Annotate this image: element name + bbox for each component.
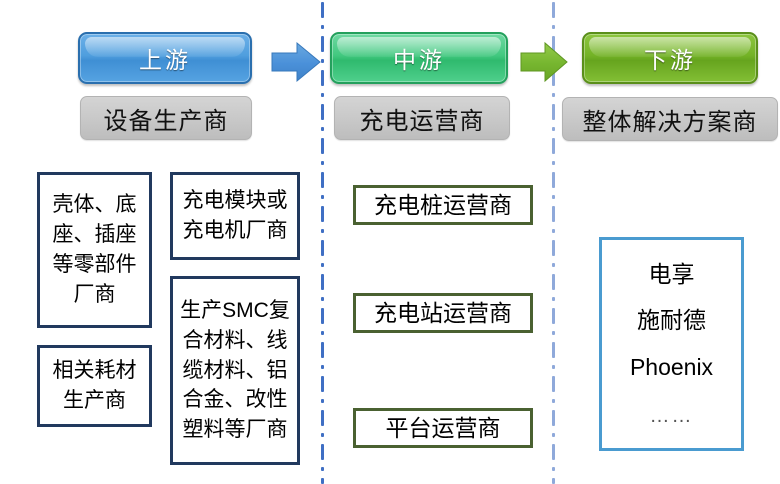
box-line: 生产商 [40,386,149,416]
box-line: 座、插座 [40,220,149,250]
box-line: 充电模块或 [173,186,297,216]
box-line: 电享 [602,258,741,291]
diagram-canvas: 上游 设备生产商 壳体、底 座、插座 等零部件 厂商 相关耗材 生产商 充电模块… [0,0,780,484]
divider-dash [552,172,555,188]
role-bar-midstream-label: 充电运营商 [360,101,485,136]
role-bar-downstream-label: 整体解决方案商 [583,102,758,137]
divider-dash [552,376,555,392]
box-consumables-manufacturers[interactable]: 相关耗材 生产商 [37,345,152,427]
divider-dash [321,399,324,403]
divider-dash [321,172,324,188]
divider-dash [321,93,324,97]
box-line: 合材料、线 [173,326,297,356]
divider-dash [321,478,324,484]
role-bar-upstream-label: 设备生产商 [104,101,229,136]
divider-dash [552,410,555,426]
divider-dash [321,104,324,120]
stage-pill-downstream-label: 下游 [644,41,696,75]
divider-dash [552,127,555,131]
divider-dash [552,229,555,233]
divider-dash [321,138,324,154]
box-platform-operator[interactable]: 平台运营商 [353,408,533,448]
divider-dash [552,2,555,18]
box-line: 缆材料、铝 [173,356,297,386]
divider-dash [321,206,324,222]
divider-dash [321,195,324,199]
divider-dash [552,365,555,369]
stage-pill-upstream[interactable]: 上游 [78,32,252,84]
box-line: 壳体、底 [40,190,149,220]
divider-dash [321,297,324,301]
divider-dash [321,342,324,358]
box-line: 相关耗材 [40,356,149,386]
divider-dash [321,229,324,233]
divider-dash [552,308,555,324]
box-line: Phoenix [602,351,741,384]
divider-dash [321,376,324,392]
divider-dash [552,399,555,403]
stage-pill-downstream[interactable]: 下游 [582,32,758,84]
box-line: …… [602,402,741,430]
box-line: 充电机厂商 [173,216,297,246]
divider-dash [552,331,555,335]
divider-dash [321,2,324,18]
divider-dash [321,161,324,165]
divider-dash [321,365,324,369]
arrow-right-green-icon [519,40,569,84]
divider-dash [552,104,555,120]
divider-dash [321,274,324,290]
divider-dash [321,308,324,324]
stage-pill-midstream[interactable]: 中游 [330,32,508,84]
box-line: 生产SMC复 [173,296,297,326]
divider-dash [552,478,555,484]
divider-dash [321,240,324,256]
divider-dash [321,127,324,131]
arrow-right-blue-icon [270,40,322,84]
divider-dash [552,274,555,290]
role-bar-downstream: 整体解决方案商 [562,97,778,141]
divider-dash [321,263,324,267]
divider-dash [552,206,555,222]
stage-pill-midstream-label: 中游 [393,41,445,75]
divider-dash [321,25,324,29]
divider-dash [321,433,324,437]
box-line: 合金、改性 [173,385,297,415]
box-line: 充电桩运营商 [356,189,530,222]
divider-dash [321,444,324,460]
box-parts-manufacturers[interactable]: 壳体、底 座、插座 等零部件 厂商 [37,172,152,328]
box-charging-module-manufacturers[interactable]: 充电模块或 充电机厂商 [170,172,300,260]
divider-dash [552,25,555,29]
box-line: 施耐德 [602,304,741,337]
divider-dash [552,93,555,97]
stage-pill-upstream-label: 上游 [139,41,191,75]
divider-dash [552,263,555,267]
divider-dash [321,331,324,335]
divider-dash [552,433,555,437]
divider-dash [552,467,555,471]
box-charging-pile-operator[interactable]: 充电桩运营商 [353,185,533,225]
divider-dash [552,342,555,358]
divider-dash [552,240,555,256]
divider-dash [552,161,555,165]
box-line: 充电站运营商 [356,297,530,330]
box-line: 厂商 [40,280,149,310]
divider-dash [552,195,555,199]
box-line: 平台运营商 [356,412,530,445]
role-bar-midstream: 充电运营商 [334,96,510,140]
box-charging-station-operator[interactable]: 充电站运营商 [353,293,533,333]
box-line: 塑料等厂商 [173,415,297,445]
box-materials-manufacturers[interactable]: 生产SMC复 合材料、线 缆材料、铝 合金、改性 塑料等厂商 [170,276,300,465]
box-solution-vendors[interactable]: 电享 施耐德 Phoenix …… [599,237,744,451]
divider-dash [552,297,555,301]
role-bar-upstream: 设备生产商 [80,96,252,140]
divider-dash [552,444,555,460]
divider-dash [321,410,324,426]
divider-dash [321,467,324,471]
box-line: 等零部件 [40,250,149,280]
divider-dash [552,138,555,154]
